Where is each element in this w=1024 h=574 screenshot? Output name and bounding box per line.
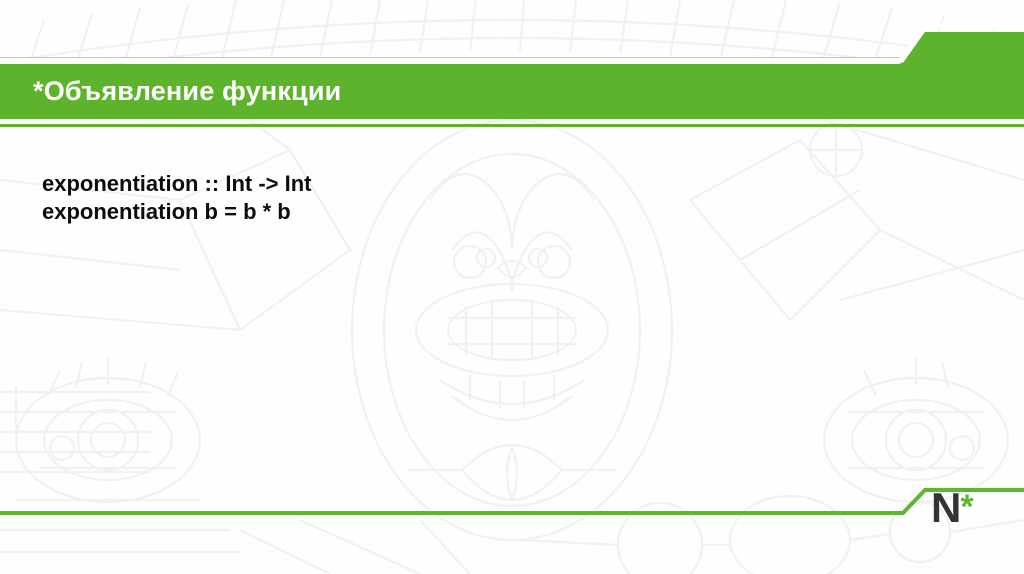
slide-footer-rule — [0, 470, 1024, 530]
page-title: *Объявление функции — [33, 78, 341, 105]
slide-body-content: exponentiation :: Int -> Int exponentiat… — [42, 170, 942, 226]
slide-header-banner — [0, 0, 1024, 132]
brand-logo: N* — [931, 487, 974, 529]
presentation-slide: *Объявление функции exponentiation :: In… — [0, 0, 1024, 574]
logo-asterisk-icon: * — [960, 488, 973, 526]
code-line-definition: exponentiation b = b * b — [42, 198, 942, 226]
logo-letter-n: N — [931, 484, 960, 531]
code-line-signature: exponentiation :: Int -> Int — [42, 170, 942, 198]
